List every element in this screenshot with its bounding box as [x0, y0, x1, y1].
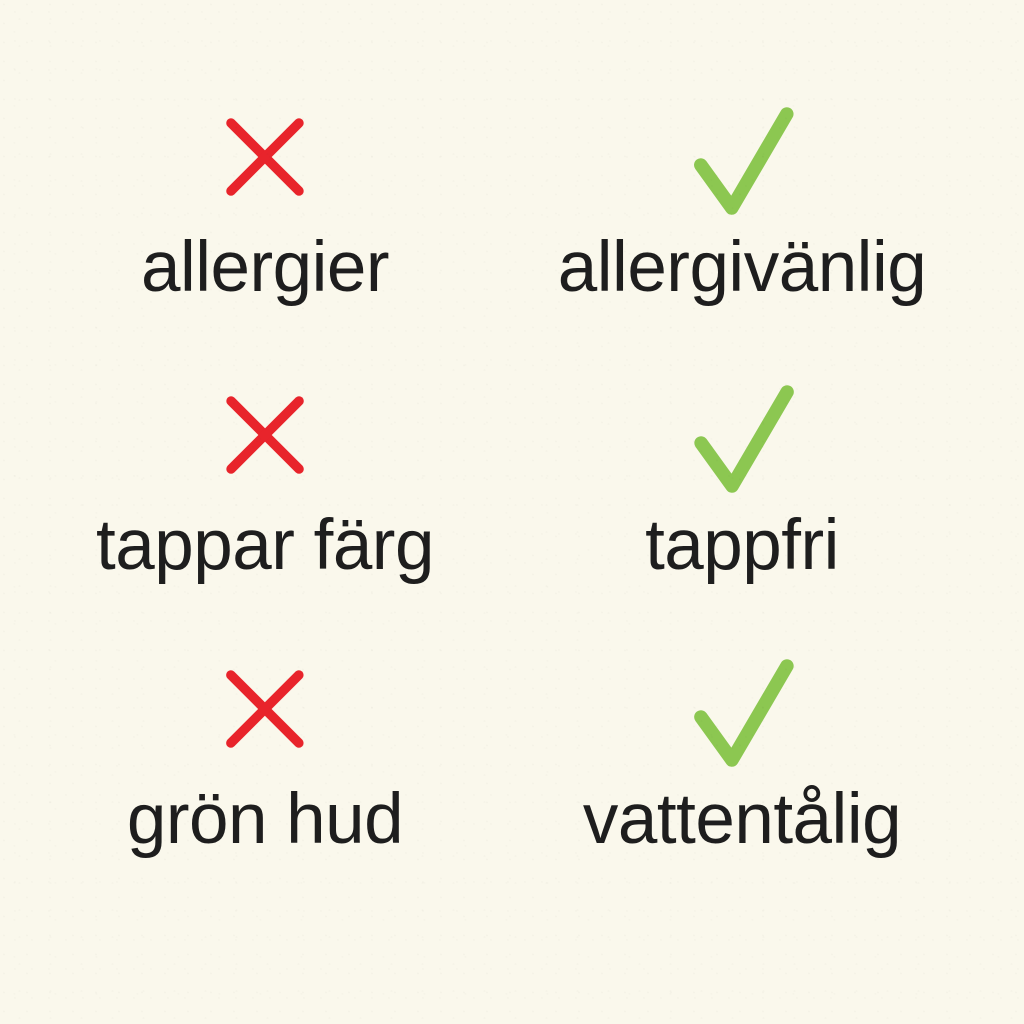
- comparison-label-positive-2: tappfri: [645, 510, 839, 581]
- comparison-label-negative-1: allergier: [141, 232, 389, 303]
- comparison-grid: allergier allergivänlig tappar färg: [0, 0, 1024, 1024]
- comparison-graphic: allergier allergivänlig tappar färg: [0, 0, 1024, 1024]
- cross-icon: [210, 102, 320, 212]
- comparison-item-positive-3: vattentålig: [583, 654, 901, 855]
- comparison-item-negative-2: tappar färg: [96, 380, 434, 581]
- comparison-item-positive-1: allergivänlig: [558, 102, 926, 303]
- comparison-item-negative-3: grön hud: [127, 654, 403, 855]
- comparison-item-negative-1: allergier: [141, 102, 389, 303]
- comparison-label-negative-2: tappar färg: [96, 510, 434, 581]
- comparison-label-positive-3: vattentålig: [583, 784, 901, 855]
- comparison-item-positive-2: tappfri: [645, 380, 839, 581]
- cross-icon: [210, 654, 320, 764]
- checkmark-icon: [687, 102, 797, 212]
- cross-icon: [210, 380, 320, 490]
- checkmark-icon: [687, 380, 797, 490]
- checkmark-icon: [687, 654, 797, 764]
- comparison-label-positive-1: allergivänlig: [558, 232, 926, 303]
- comparison-label-negative-3: grön hud: [127, 784, 403, 855]
